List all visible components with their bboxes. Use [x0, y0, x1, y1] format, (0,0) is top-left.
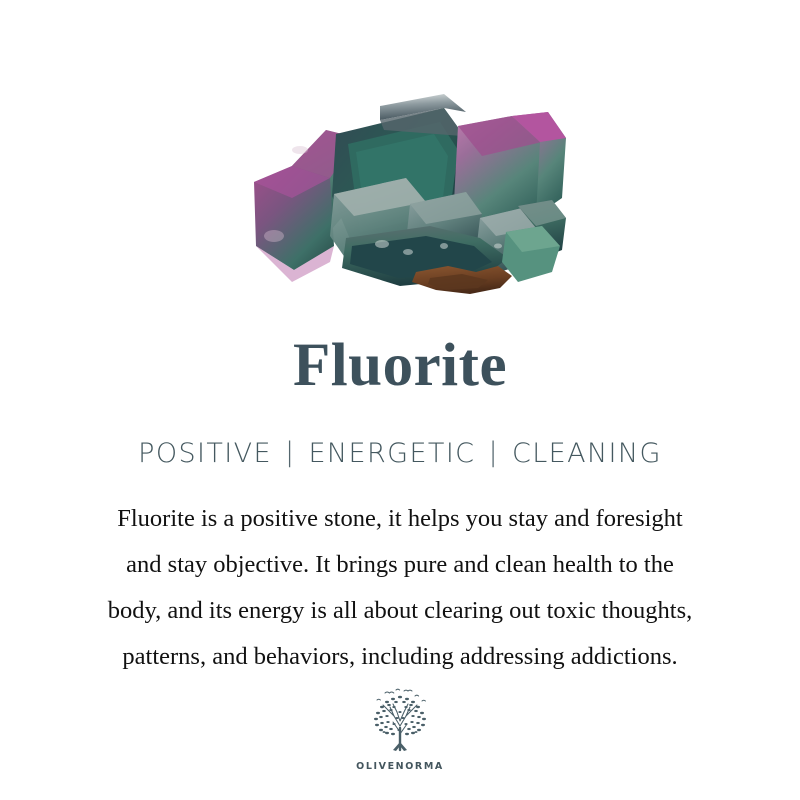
page-title: Fluorite: [0, 335, 800, 396]
description-text: Fluorite is a positive stone, it helps y…: [16, 496, 784, 680]
crystal-image: [0, 86, 800, 301]
fluorite-crystal-cluster-illustration: [230, 86, 570, 301]
brand-name: OLIVENORMA: [356, 762, 444, 772]
keyword-separator: |: [475, 439, 512, 466]
keyword-energetic: ENERGETIC: [308, 440, 475, 467]
description-line: patterns, and behaviors, including addre…: [16, 634, 784, 680]
olive-tree-icon: [363, 688, 437, 760]
keyword-separator: |: [272, 439, 309, 466]
keyword-list: POSITIVE|ENERGETIC|CLEANING: [0, 440, 800, 467]
keyword-cleaning: CLEANING: [512, 440, 662, 467]
fluorite-info-card: Fluorite POSITIVE|ENERGETIC|CLEANING Flu…: [0, 0, 800, 800]
description-line: and stay objective. It brings pure and c…: [16, 542, 784, 588]
description-line: Fluorite is a positive stone, it helps y…: [16, 496, 784, 542]
description-line: body, and its energy is all about cleari…: [16, 588, 784, 634]
brand-logo: OLIVENORMA: [0, 688, 800, 772]
keyword-positive: POSITIVE: [138, 440, 272, 467]
